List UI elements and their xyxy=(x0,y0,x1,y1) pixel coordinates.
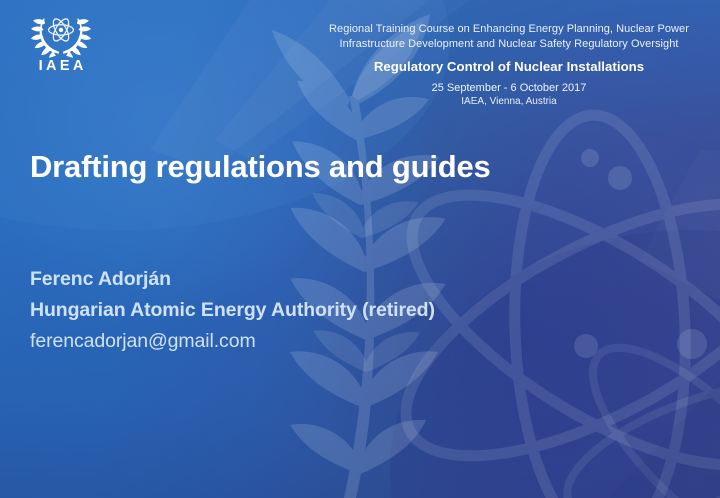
course-venue: IAEA, Vienna, Austria xyxy=(300,95,718,109)
event-header: Regional Training Course on Enhancing En… xyxy=(300,22,718,109)
author-affiliation: Hungarian Atomic Energy Authority (retir… xyxy=(30,295,650,326)
author-email: ferencadorjan@gmail.com xyxy=(30,326,650,357)
iaea-logo: IAEA xyxy=(22,6,100,74)
author-block: Ferenc Adorján Hungarian Atomic Energy A… xyxy=(30,264,650,357)
course-subject-line-1: Regional Training Course on Enhancing En… xyxy=(300,22,718,37)
course-subject-line-2: Infrastructure Development and Nuclear S… xyxy=(300,37,718,52)
course-dates: 25 September - 6 October 2017 xyxy=(300,81,718,95)
author-name: Ferenc Adorján xyxy=(30,264,650,295)
atom-laurel-icon xyxy=(30,6,92,58)
iaea-logo-text: IAEA xyxy=(22,59,100,74)
presentation-title-slide: IAEA Regional Training Course on Enhanci… xyxy=(0,0,720,498)
course-title: Regulatory Control of Nuclear Installati… xyxy=(300,59,718,74)
page-title: Drafting regulations and guides xyxy=(30,150,670,183)
